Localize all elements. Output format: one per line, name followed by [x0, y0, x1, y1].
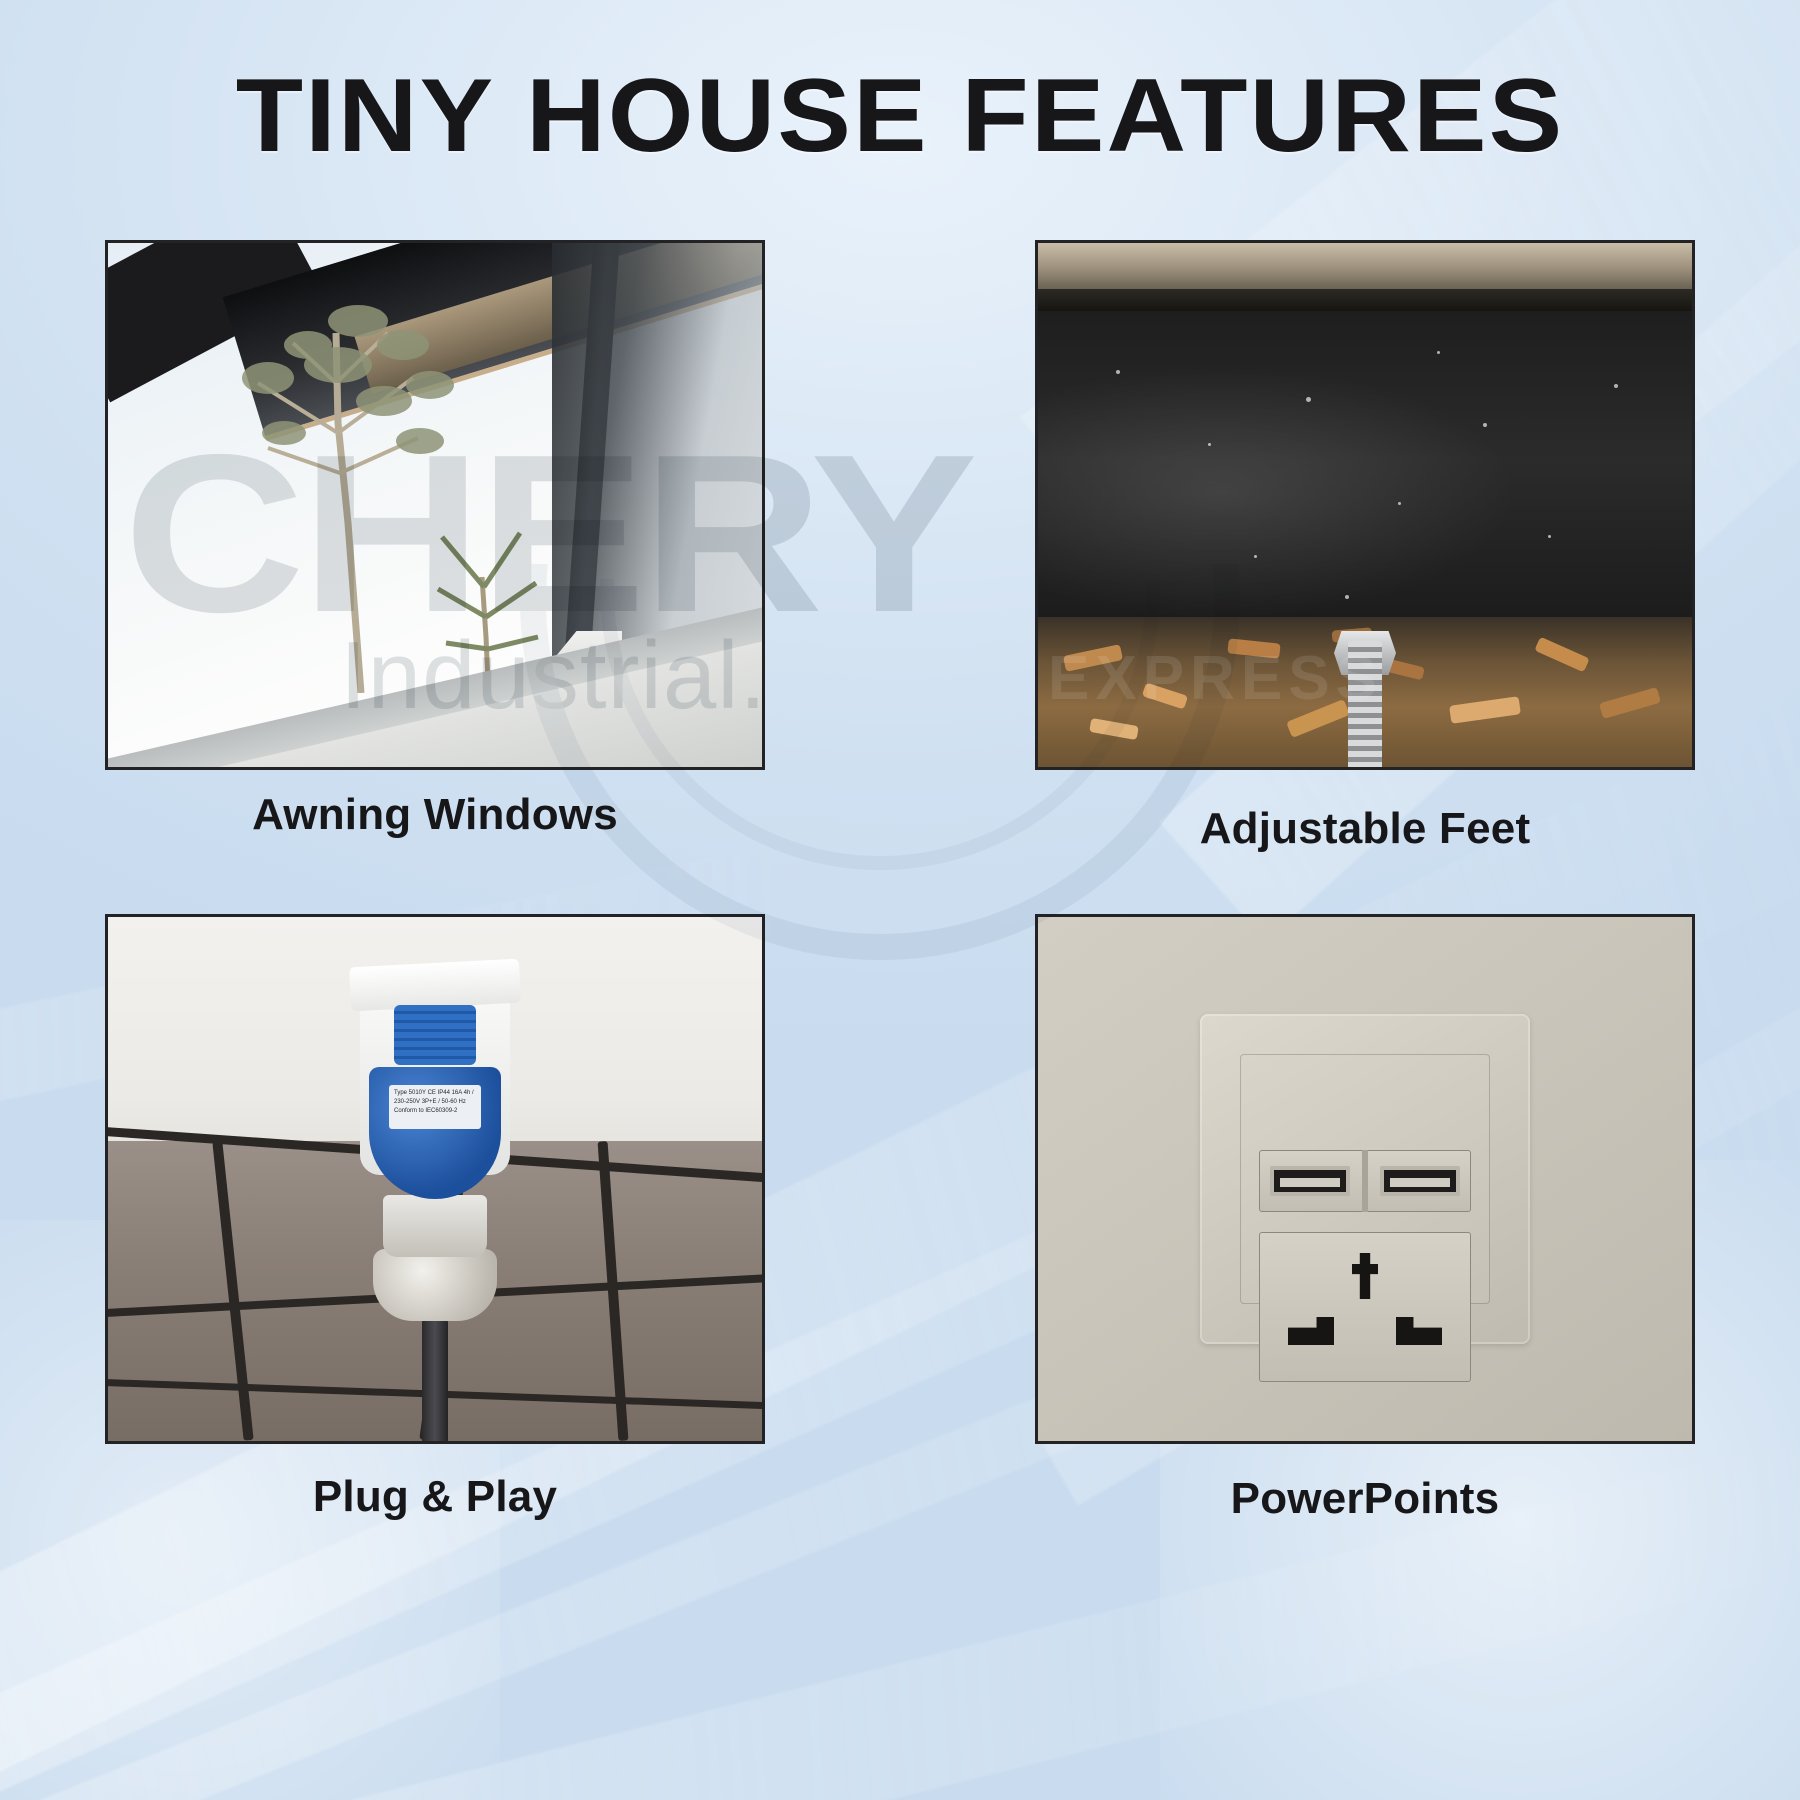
- feature-card-plug-and-play: Type 5010Y CE IP44 16A 4h / 230-250V 3P+…: [105, 914, 765, 1524]
- adjustable-feet-photo: EXPRESS: [1035, 240, 1695, 770]
- awning-window-photo: [105, 240, 765, 770]
- socket-stem: [383, 1195, 487, 1257]
- feature-card-awning-windows: Awning Windows: [105, 240, 765, 854]
- universal-socket: [1259, 1232, 1471, 1382]
- socket-cover-flap: [394, 1005, 476, 1065]
- earth-pin-slot: [1352, 1253, 1378, 1299]
- feature-caption-adjustable-feet: Adjustable Feet: [1035, 804, 1695, 854]
- feature-grid: Awning Windows: [105, 240, 1695, 1524]
- feature-caption-awning-windows: Awning Windows: [105, 790, 765, 840]
- feature-card-powerpoints: PowerPoints: [1035, 914, 1695, 1524]
- watermark-express-text: EXPRESS: [1048, 643, 1383, 714]
- plug-and-play-socket-photo: Type 5010Y CE IP44 16A 4h / 230-250V 3P+…: [105, 914, 765, 1444]
- page-title: TINY HOUSE FEATURES: [0, 62, 1800, 171]
- deck-gap: [1038, 289, 1692, 311]
- socket-inner-plate: [1240, 1054, 1490, 1304]
- feature-caption-powerpoints: PowerPoints: [1035, 1474, 1695, 1524]
- socket-lid: [349, 959, 521, 1012]
- socket-faceplate: [1200, 1014, 1530, 1344]
- usb-port-left: [1270, 1166, 1350, 1196]
- usb-divider: [1362, 1150, 1368, 1212]
- power-point-socket-photo: [1035, 914, 1695, 1444]
- title-container: TINY HOUSE FEATURES: [0, 62, 1800, 171]
- deck-underside: [1038, 243, 1692, 289]
- power-cable: [422, 1313, 448, 1444]
- socket-base: [373, 1249, 497, 1321]
- poster-root: TINY HOUSE FEATURES: [0, 0, 1800, 1800]
- feature-caption-plug-and-play: Plug & Play: [105, 1472, 765, 1522]
- feature-card-adjustable-feet: EXPRESS Adjustable Feet: [1035, 240, 1695, 854]
- steel-chassis-beam: [1038, 311, 1692, 641]
- socket-rating-label: Type 5010Y CE IP44 16A 4h / 230-250V 3P+…: [389, 1085, 481, 1129]
- live-pin-slot: [1288, 1317, 1334, 1345]
- neutral-pin-slot: [1396, 1317, 1442, 1345]
- usb-port-right: [1380, 1166, 1460, 1196]
